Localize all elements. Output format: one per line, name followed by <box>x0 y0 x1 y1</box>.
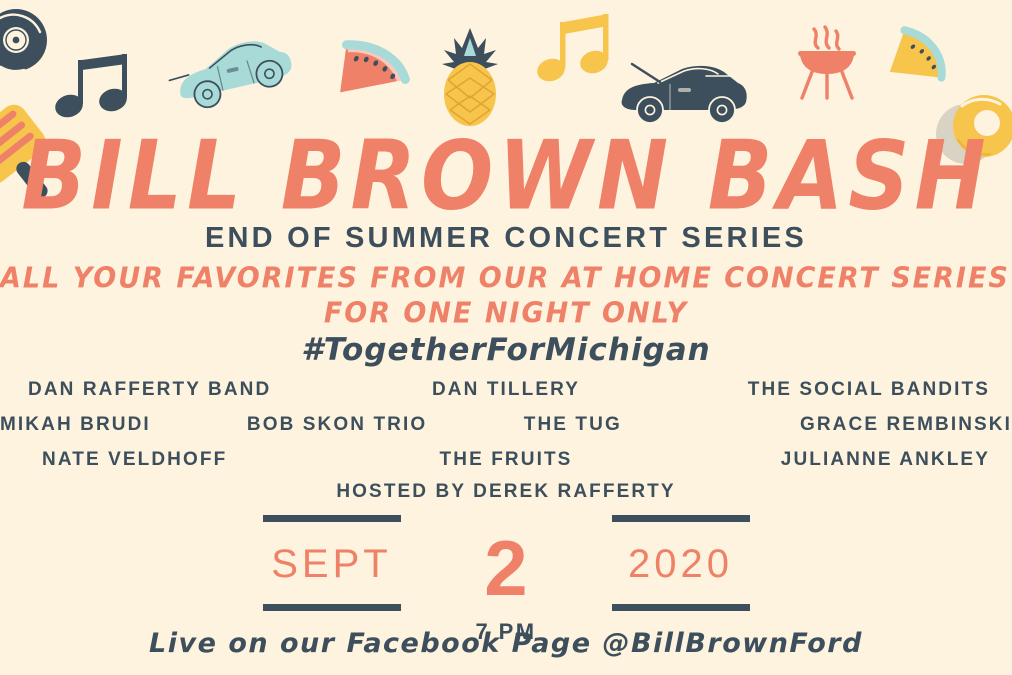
poster-subtitle: END OF SUMMER CONCERT SERIES <box>0 222 1012 255</box>
lineup-item-dan-tillery: DAN TILLERY <box>337 379 674 401</box>
event-poster: BILL BROWN BASH END OF SUMMER CONCERT SE… <box>0 0 1012 675</box>
year-rule-top <box>612 515 750 522</box>
date-year-column: 2020 <box>603 515 758 611</box>
blurb-line-1: ALL YOUR FAVORITES FROM OUR AT HOME CONC… <box>0 261 1012 297</box>
poster-title-container: BILL BROWN BASH <box>0 134 1012 219</box>
melon-slice-yellow-icon <box>888 30 950 92</box>
lineup-row: DAN RAFFERTY BAND DAN TILLERY THE SOCIAL… <box>0 372 1012 407</box>
year-rule-bottom <box>612 604 750 611</box>
music-note-navy-icon <box>56 52 134 124</box>
month-rule-bottom <box>263 604 401 611</box>
event-year: 2020 <box>628 522 733 604</box>
lineup-item-nate-veldhoff: NATE VELDHOFF <box>0 449 337 471</box>
watermelon-slice-icon <box>336 36 412 110</box>
vinyl-record-icon <box>0 4 58 84</box>
hashtag: #TogetherForMichigan <box>0 332 1012 368</box>
poster-subtitle-container: END OF SUMMER CONCERT SERIES <box>0 222 1012 255</box>
poster-blurb: ALL YOUR FAVORITES FROM OUR AT HOME CONC… <box>0 262 1012 331</box>
bbq-grill-icon <box>796 18 858 104</box>
lineup-item-mikah-brudi: MIKAH BRUDI <box>0 414 243 436</box>
hosted-by-container: HOSTED BY DEREK RAFFERTY <box>0 481 1012 503</box>
lineup-item-grace-rembinski: GRACE REMBINSKI <box>729 414 1012 436</box>
music-note-yellow-icon <box>538 12 618 90</box>
footer-text: Live on our Facebook Page @BillBrownFord <box>0 628 1012 659</box>
date-day-column: 2 7 PM <box>451 515 561 645</box>
event-date-block: SEPT 2 7 PM 2020 <box>0 515 1012 645</box>
lineup-item-julianne-ankley: JULIANNE ANKLEY <box>675 449 1012 471</box>
lineup-row: NATE VELDHOFF THE FRUITS JULIANNE ANKLEY <box>0 442 1012 477</box>
month-rule-top <box>263 515 401 522</box>
date-month-column: SEPT <box>254 515 409 611</box>
lineup-item-the-fruits: THE FRUITS <box>337 449 674 471</box>
footer-container: Live on our Facebook Page @BillBrownFord <box>0 628 1012 659</box>
lineup-row: MIKAH BRUDI BOB SKON TRIO THE TUG GRACE … <box>0 407 1012 442</box>
lineup-item-the-tug: THE TUG <box>486 414 729 436</box>
page-title: BILL BROWN BASH <box>0 129 1012 224</box>
event-day: 2 <box>484 531 527 605</box>
lineup-item-dan-rafferty-band: DAN RAFFERTY BAND <box>0 379 337 401</box>
event-month: SEPT <box>271 522 391 604</box>
hashtag-container: #TogetherForMichigan <box>0 332 1012 368</box>
convertible-car-mint-icon <box>168 32 298 116</box>
lineup-item-the-social-bandits: THE SOCIAL BANDITS <box>675 379 1012 401</box>
hosted-by-text: HOSTED BY DEREK RAFFERTY <box>0 481 1012 503</box>
lineup-list: DAN RAFFERTY BAND DAN TILLERY THE SOCIAL… <box>0 372 1012 477</box>
lineup-item-bob-skon-trio: BOB SKON TRIO <box>243 414 486 436</box>
pineapple-icon <box>432 22 508 132</box>
blurb-line-2: FOR ONE NIGHT ONLY <box>0 296 1012 332</box>
